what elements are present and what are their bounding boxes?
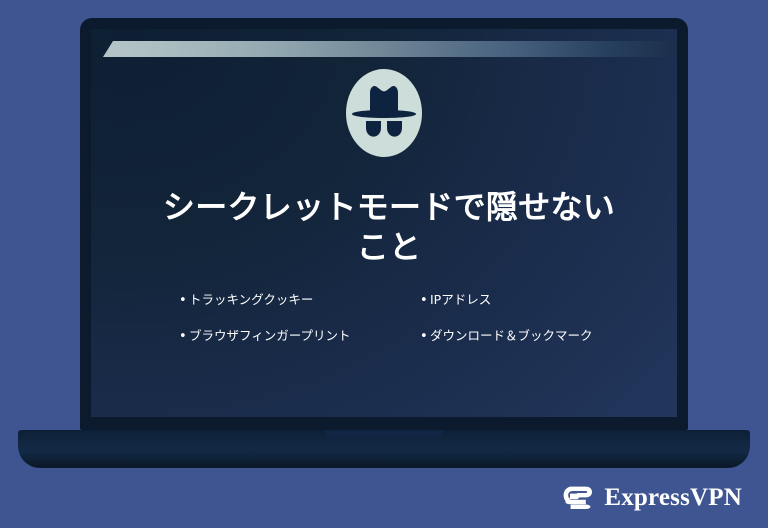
- incognito-icon-wrap: [91, 68, 677, 158]
- bullet-marker-icon: •: [179, 291, 189, 311]
- expressvpn-e-logo-icon: [561, 480, 595, 514]
- screen-top-accent-bar: [91, 41, 677, 57]
- bullet-column-left: • トラッキングクッキー • ブラウザフィンガープリント: [179, 291, 378, 362]
- slide-canvas: シークレットモードで隠せないこと • トラッキングクッキー • ブラウザフィンガ…: [0, 0, 768, 528]
- bullet-marker-icon: •: [179, 327, 189, 347]
- bullet-marker-icon: •: [420, 291, 430, 311]
- list-item: • ブラウザフィンガープリント: [179, 327, 378, 347]
- list-item-label: ブラウザフィンガープリント: [189, 327, 378, 346]
- laptop-screen: シークレットモードで隠せないこと • トラッキングクッキー • ブラウザフィンガ…: [91, 29, 677, 417]
- list-item-label: IPアドレス: [430, 291, 619, 310]
- list-item: • IPアドレス: [420, 291, 619, 311]
- incognito-hat-glasses-icon: [345, 68, 423, 158]
- list-item-label: ダウンロード＆ブックマーク: [430, 327, 619, 346]
- expressvpn-brand-lockup: ExpressVPN: [561, 480, 742, 514]
- bullet-columns: • トラッキングクッキー • ブラウザフィンガープリント • IPアドレス •: [179, 291, 619, 362]
- list-item: • トラッキングクッキー: [179, 291, 378, 311]
- laptop-base-notch: [324, 430, 444, 437]
- bullet-marker-icon: •: [420, 327, 430, 347]
- laptop-illustration: シークレットモードで隠せないこと • トラッキングクッキー • ブラウザフィンガ…: [0, 0, 768, 528]
- bullet-column-right: • IPアドレス • ダウンロード＆ブックマーク: [420, 291, 619, 362]
- slide-title: シークレットモードで隠せないこと: [147, 187, 631, 267]
- list-item-label: トラッキングクッキー: [189, 291, 378, 310]
- expressvpn-wordmark: ExpressVPN: [604, 485, 742, 510]
- list-item: • ダウンロード＆ブックマーク: [420, 327, 619, 347]
